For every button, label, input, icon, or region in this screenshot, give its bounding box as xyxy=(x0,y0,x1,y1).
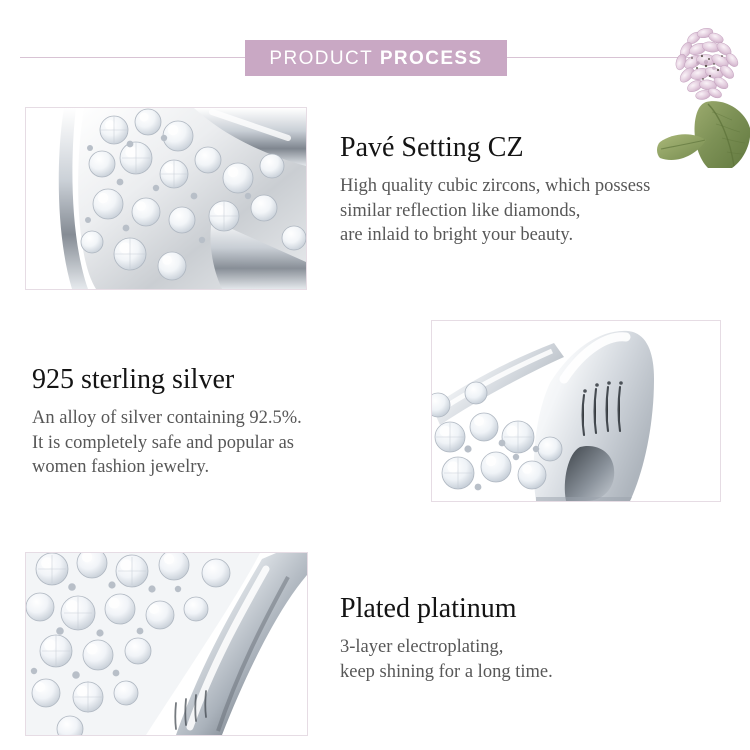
feature-line: An alloy of silver containing 92.5%. xyxy=(32,406,392,431)
feature-block-plated-platinum: Plated platinum 3-layer electroplating, … xyxy=(340,593,720,684)
feature-line: are inlaid to bright your beauty. xyxy=(340,223,740,248)
product-photo-sterling-silver xyxy=(431,320,721,502)
banner-title: PRODUCT PROCESS xyxy=(269,49,482,68)
feature-heading: 925 sterling silver xyxy=(32,364,392,396)
feature-heading: Pavé Setting CZ xyxy=(340,132,740,164)
blossom-cluster xyxy=(674,27,740,101)
banner-title-bold: PROCESS xyxy=(380,48,483,69)
product-photo-pave-cz xyxy=(25,107,307,290)
feature-line: similar reflection like diamonds, xyxy=(340,199,740,224)
section-banner: PRODUCT PROCESS xyxy=(245,40,507,76)
feature-block-sterling-silver: 925 sterling silver An alloy of silver c… xyxy=(32,364,392,480)
feature-line: 3-layer electroplating, xyxy=(340,635,720,660)
feature-line: High quality cubic zircons, which posses… xyxy=(340,174,740,199)
product-process-infographic: PRODUCT PROCESS xyxy=(0,0,750,750)
feature-line: It is completely safe and popular as xyxy=(32,431,392,456)
feature-block-pave-setting-cz: Pavé Setting CZ High quality cubic zirco… xyxy=(340,132,740,248)
banner-title-light: PRODUCT xyxy=(269,48,373,69)
feature-line: women fashion jewelry. xyxy=(32,455,392,480)
feature-heading: Plated platinum xyxy=(340,593,720,625)
feature-line: keep shining for a long time. xyxy=(340,660,720,685)
product-photo-plated-platinum xyxy=(25,552,308,736)
